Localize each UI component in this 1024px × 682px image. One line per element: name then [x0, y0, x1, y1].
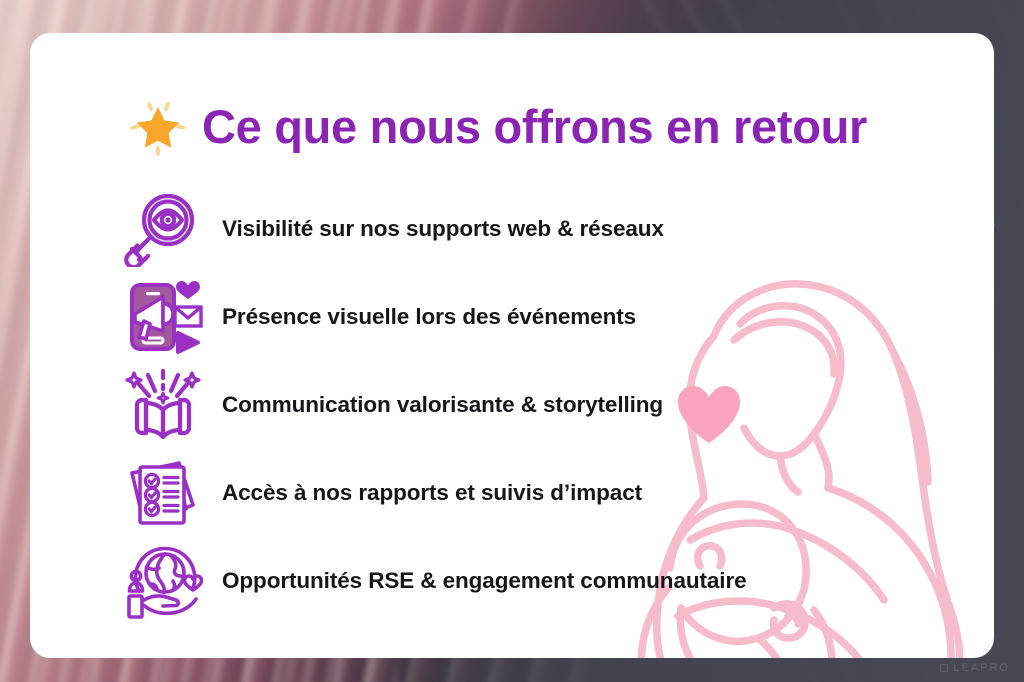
page-title-text: Ce que nous offrons en retour: [202, 99, 867, 154]
list-item[interactable]: Communication valorisante & storytelling: [122, 361, 942, 449]
watermark-mark-icon: [940, 664, 948, 672]
benefits-list: Visibilité sur nos supports web & réseau…: [122, 185, 942, 625]
open-book-sparkle-icon: [122, 366, 204, 444]
list-item-label: Opportunités RSE & engagement communauta…: [222, 568, 747, 594]
list-item-label: Visibilité sur nos supports web & réseau…: [222, 216, 664, 242]
glowing-star-icon: [130, 100, 186, 156]
watermark-text: LEAPRO: [953, 662, 1010, 674]
list-item-label: Communication valorisante & storytelling: [222, 392, 663, 418]
smartphone-megaphone-icon: [122, 278, 204, 356]
hand-globe-community-icon: [122, 542, 204, 620]
watermark: LEAPRO: [940, 662, 1010, 674]
page-title: Ce que nous offrons en retour: [130, 96, 867, 156]
list-item[interactable]: Opportunités RSE & engagement communauta…: [122, 537, 942, 625]
list-item[interactable]: Visibilité sur nos supports web & réseau…: [122, 185, 942, 273]
list-item[interactable]: Accès à nos rapports et suivis d’impact: [122, 449, 942, 537]
magnifier-eye-icon: [122, 190, 204, 268]
content-card: Ce que nous offrons en retour: [30, 33, 994, 658]
list-item-label: Accès à nos rapports et suivis d’impact: [222, 480, 642, 506]
list-item[interactable]: Présence visuelle lors des événements: [122, 273, 942, 361]
slide-canvas: Ce que nous offrons en retour: [0, 0, 1024, 682]
list-item-label: Présence visuelle lors des événements: [222, 304, 636, 330]
checklist-documents-icon: [122, 454, 204, 532]
